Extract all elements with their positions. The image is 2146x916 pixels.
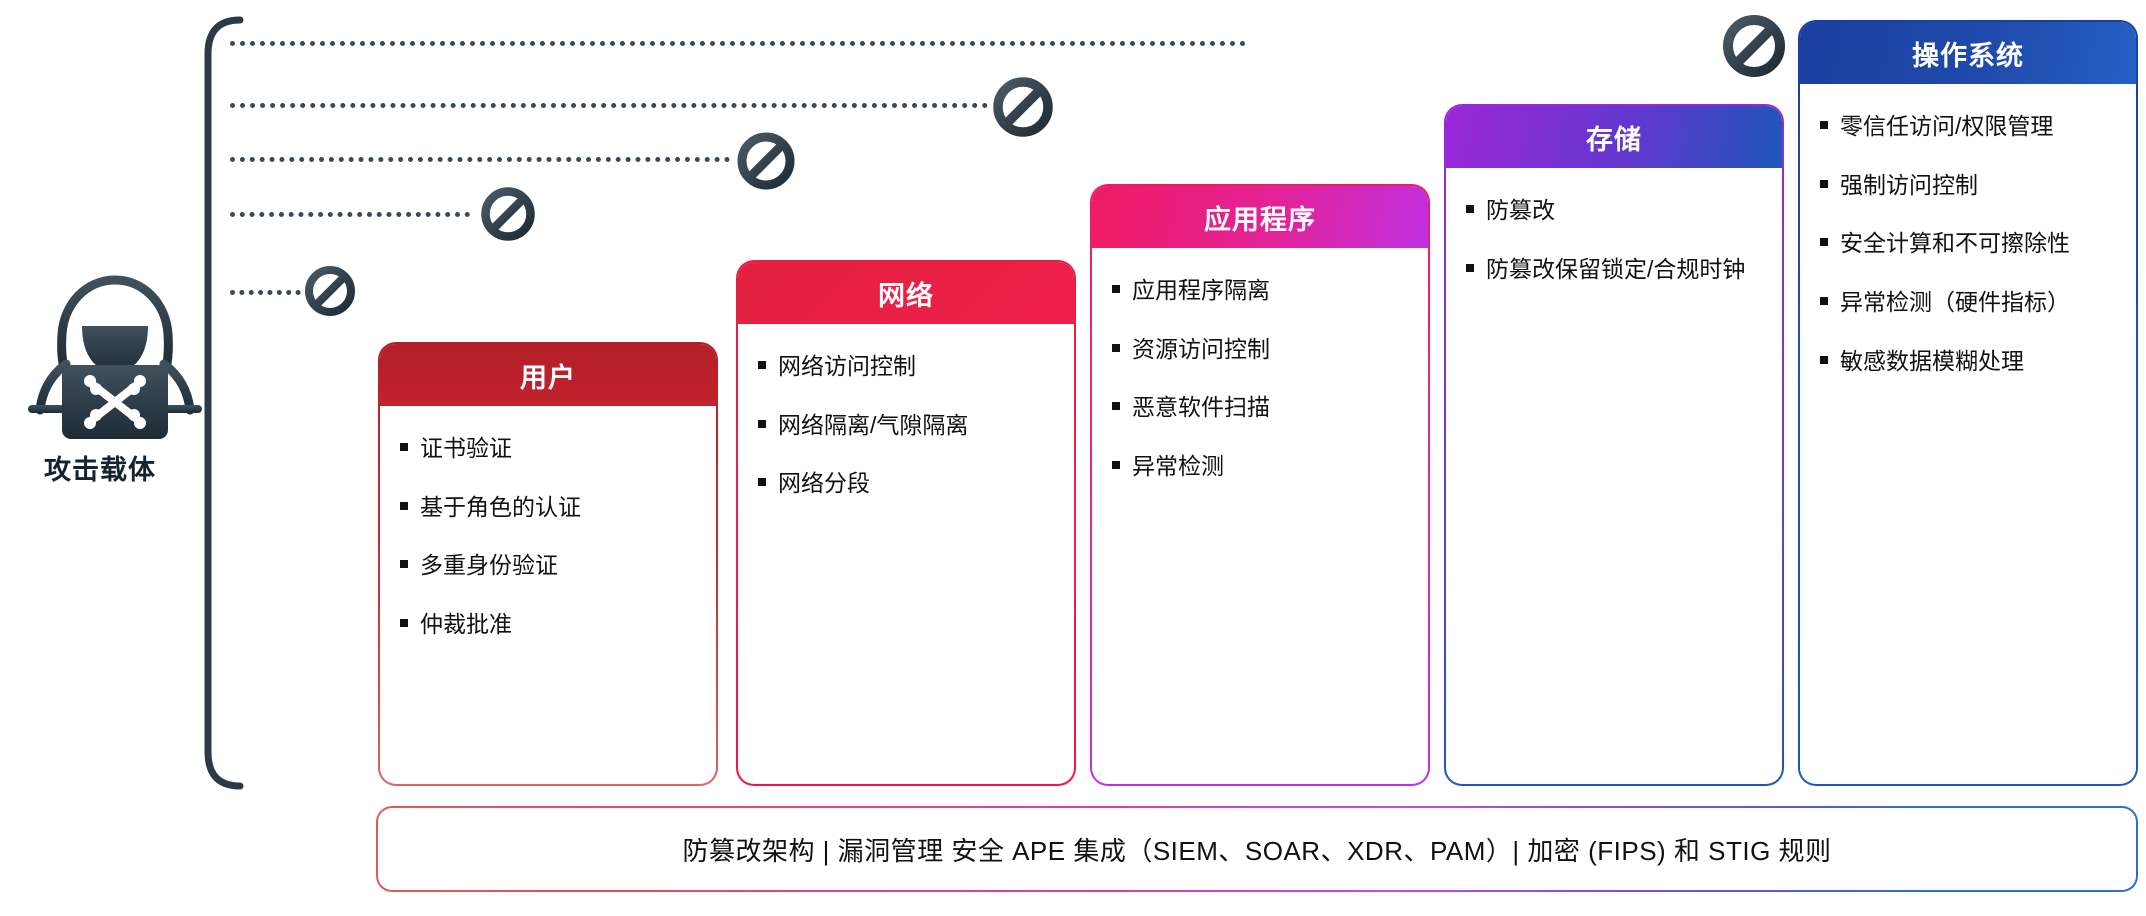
prohibition-icon-network — [480, 186, 536, 242]
bullet-dot — [400, 560, 408, 568]
attack-line-application — [230, 157, 730, 162]
list-item: 仲裁批准 — [400, 608, 698, 641]
list-item: 网络隔离/气隙隔离 — [758, 409, 1056, 442]
list-item: 网络访问控制 — [758, 350, 1056, 383]
bullet-dot — [400, 502, 408, 510]
hacker-icon — [22, 268, 208, 458]
layer-items-os: 零信任访问/权限管理 强制访问控制 安全计算和不可擦除性 异常检测（硬件指标） … — [1800, 84, 2136, 784]
bullet-dot — [1466, 264, 1474, 272]
layer-card-network[interactable]: 网络 网络访问控制 网络隔离/气隙隔离 网络分段 — [736, 260, 1076, 786]
bullet-dot — [1820, 121, 1828, 129]
list-item: 应用程序隔离 — [1112, 274, 1410, 307]
bullet-dot — [1112, 402, 1120, 410]
bullet-dot — [1112, 285, 1120, 293]
list-item: 零信任访问/权限管理 — [1820, 110, 2118, 143]
layer-card-os-inner: 操作系统 零信任访问/权限管理 强制访问控制 安全计算和不可擦除性 异常检测（硬… — [1800, 22, 2136, 784]
layer-title-os: 操作系统 — [1800, 22, 2136, 84]
bullet-dot — [1466, 205, 1474, 213]
layer-card-application[interactable]: 应用程序 应用程序隔离 资源访问控制 恶意软件扫描 异常检测 — [1090, 184, 1430, 786]
list-item: 防篡改 — [1466, 194, 1764, 227]
list-item: 证书验证 — [400, 432, 698, 465]
prohibition-icon-storage — [992, 76, 1054, 138]
bullet-dot — [1112, 461, 1120, 469]
list-item: 恶意软件扫描 — [1112, 391, 1410, 424]
bullet-dot — [1820, 180, 1828, 188]
list-item: 网络分段 — [758, 467, 1056, 500]
layer-items-user: 证书验证 基于角色的认证 多重身份验证 仲裁批准 — [380, 406, 716, 784]
list-item: 强制访问控制 — [1820, 169, 2118, 202]
footer-banner-text: 防篡改架构 | 漏洞管理 安全 APE 集成（SIEM、SOAR、XDR、PAM… — [378, 808, 2136, 890]
list-item: 安全计算和不可擦除性 — [1820, 227, 2118, 260]
list-item: 异常检测（硬件指标） — [1820, 286, 2118, 319]
bullet-dot — [1820, 356, 1828, 364]
layer-title-network: 网络 — [738, 262, 1074, 324]
attack-line-network — [230, 212, 470, 217]
bullet-dot — [1820, 297, 1828, 305]
attack-line-storage — [230, 103, 988, 108]
layer-card-network-inner: 网络 网络访问控制 网络隔离/气隙隔离 网络分段 — [738, 262, 1074, 784]
bullet-dot — [758, 361, 766, 369]
prohibition-icon-application — [736, 131, 796, 191]
layer-items-network: 网络访问控制 网络隔离/气隙隔离 网络分段 — [738, 324, 1074, 784]
layer-items-application: 应用程序隔离 资源访问控制 恶意软件扫描 异常检测 — [1092, 248, 1428, 784]
attack-line-os — [230, 41, 1246, 46]
list-item: 多重身份验证 — [400, 549, 698, 582]
security-layers-diagram: 攻击载体 — [0, 0, 2146, 916]
prohibition-icon-os — [1722, 14, 1786, 78]
bracket — [188, 16, 248, 790]
list-item: 基于角色的认证 — [400, 491, 698, 524]
layer-title-user: 用户 — [380, 344, 716, 406]
bullet-dot — [1112, 344, 1120, 352]
footer-banner: 防篡改架构 | 漏洞管理 安全 APE 集成（SIEM、SOAR、XDR、PAM… — [376, 806, 2138, 892]
layer-card-application-inner: 应用程序 应用程序隔离 资源访问控制 恶意软件扫描 异常检测 — [1092, 186, 1428, 784]
bullet-dot — [758, 478, 766, 486]
list-item: 资源访问控制 — [1112, 333, 1410, 366]
layer-card-user-inner: 用户 证书验证 基于角色的认证 多重身份验证 仲裁批准 — [380, 344, 716, 784]
layer-card-user[interactable]: 用户 证书验证 基于角色的认证 多重身份验证 仲裁批准 — [378, 342, 718, 786]
layer-card-storage[interactable]: 存储 防篡改 防篡改保留锁定/合规时钟 — [1444, 104, 1784, 786]
attack-vector-label: 攻击载体 — [0, 448, 200, 487]
layer-card-storage-inner: 存储 防篡改 防篡改保留锁定/合规时钟 — [1446, 106, 1782, 784]
layer-title-application: 应用程序 — [1092, 186, 1428, 248]
prohibition-icon-user — [304, 265, 356, 317]
list-item: 敏感数据模糊处理 — [1820, 345, 2118, 378]
bullet-dot — [758, 420, 766, 428]
bullet-dot — [400, 619, 408, 627]
layer-title-storage: 存储 — [1446, 106, 1782, 168]
bullet-dot — [400, 443, 408, 451]
bullet-dot — [1820, 238, 1828, 246]
attack-line-user — [230, 290, 310, 295]
layer-card-os[interactable]: 操作系统 零信任访问/权限管理 强制访问控制 安全计算和不可擦除性 异常检测（硬… — [1798, 20, 2138, 786]
list-item: 防篡改保留锁定/合规时钟 — [1466, 253, 1764, 286]
list-item: 异常检测 — [1112, 450, 1410, 483]
layer-items-storage: 防篡改 防篡改保留锁定/合规时钟 — [1446, 168, 1782, 784]
